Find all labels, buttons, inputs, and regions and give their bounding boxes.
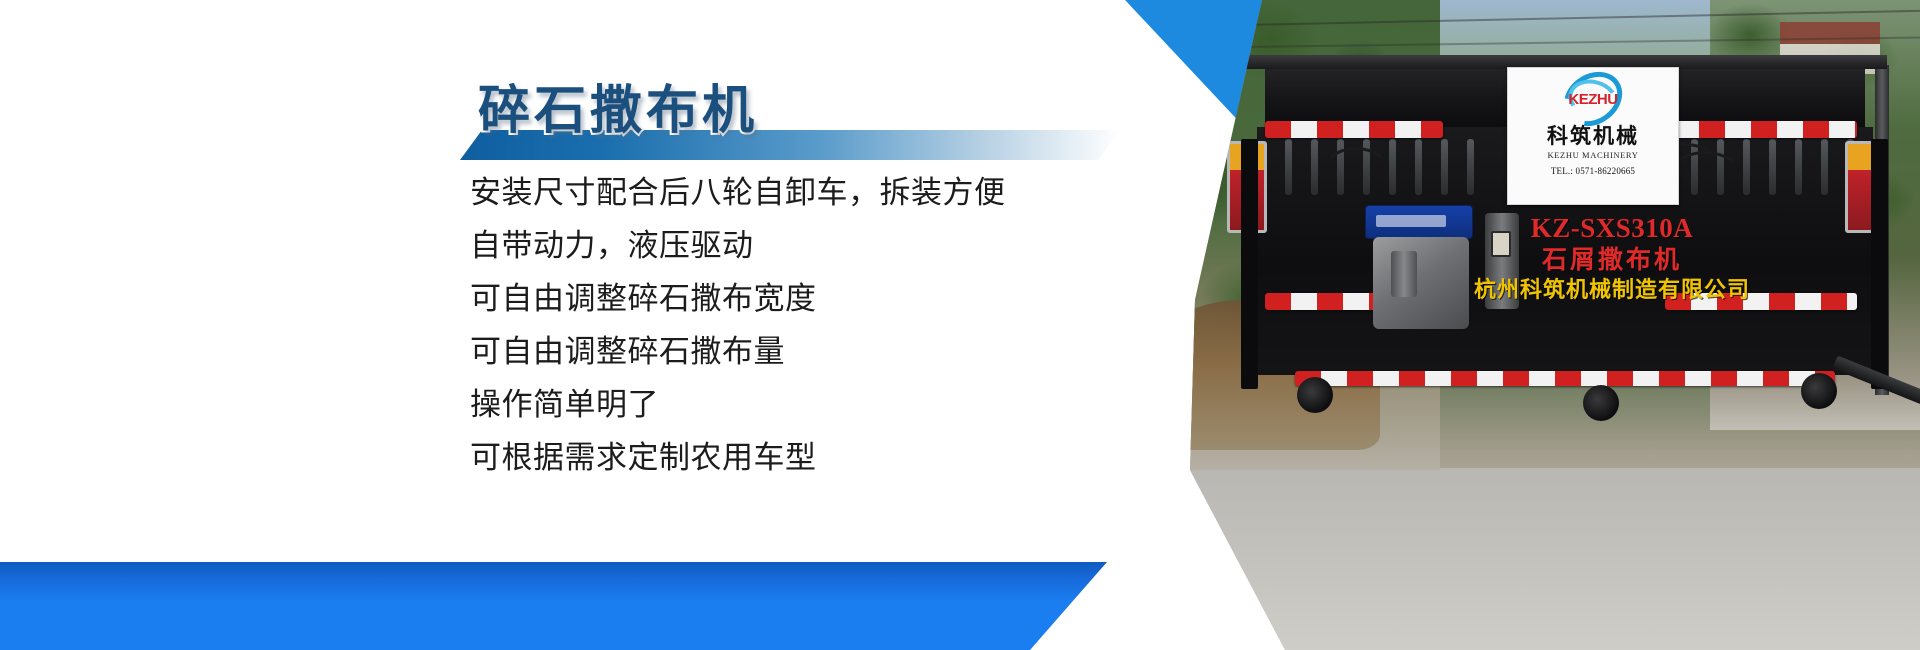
engine-cylinder: [1391, 251, 1417, 297]
machine-model-text-block: KZ-SXS310A 石屑撒布机 杭州科筑机械制造有限公司: [1467, 213, 1757, 304]
placard-brand-cn: 科筑机械: [1547, 126, 1639, 147]
placard-telephone: TEL.: 0571-86220665: [1551, 166, 1635, 176]
hydraulic-hose: [1321, 147, 1391, 203]
engine-cover: [1365, 205, 1473, 239]
product-photo: KEZHU 科筑机械 KEZHU MACHINERY TEL.: 0571-86…: [1140, 0, 1920, 650]
kezhu-brand-placard: KEZHU 科筑机械 KEZHU MACHINERY TEL.: 0571-86…: [1507, 67, 1679, 205]
feature-item: 可自由调整碎石撒布宽度: [470, 284, 1110, 315]
chip-spreader-machine: KEZHU 科筑机械 KEZHU MACHINERY TEL.: 0571-86…: [1235, 55, 1895, 435]
feature-list: 安装尺寸配合后八轮自卸车，拆装方便 自带动力，液压驱动 可自由调整碎石撒布宽度 …: [470, 178, 1110, 496]
kezhu-logo-icon: KEZHU: [1562, 74, 1624, 124]
feature-item: 可根据需求定制农用车型: [470, 443, 1110, 474]
product-banner: KEZHU 科筑机械 KEZHU MACHINERY TEL.: 0571-86…: [0, 0, 1920, 650]
feature-item: 可自由调整碎石撒布量: [470, 337, 1110, 368]
caster-wheel: [1583, 385, 1619, 421]
feature-item: 操作简单明了: [470, 390, 1110, 421]
placard-brand-en: KEZHU MACHINERY: [1548, 150, 1639, 160]
page-title: 碎石撒布机: [478, 68, 758, 143]
machine-manufacturer-cn: 杭州科筑机械制造有限公司: [1467, 279, 1757, 304]
feature-item: 安装尺寸配合后八轮自卸车，拆装方便: [470, 178, 1110, 209]
caster-wheel: [1297, 377, 1333, 413]
machine-model-name-cn: 石屑撒布机: [1467, 246, 1757, 274]
reflective-stripe: [1265, 121, 1443, 138]
engine-block: [1373, 237, 1469, 329]
reflective-stripe: [1295, 371, 1835, 386]
caster-wheel: [1801, 373, 1837, 409]
machine-model-code: KZ-SXS310A: [1467, 213, 1757, 243]
machine-post-left: [1241, 139, 1258, 389]
placard-brand-latin: KEZHU: [1568, 91, 1617, 108]
feature-item: 自带动力，液压驱动: [470, 231, 1110, 262]
machine-post-right: [1871, 139, 1888, 389]
